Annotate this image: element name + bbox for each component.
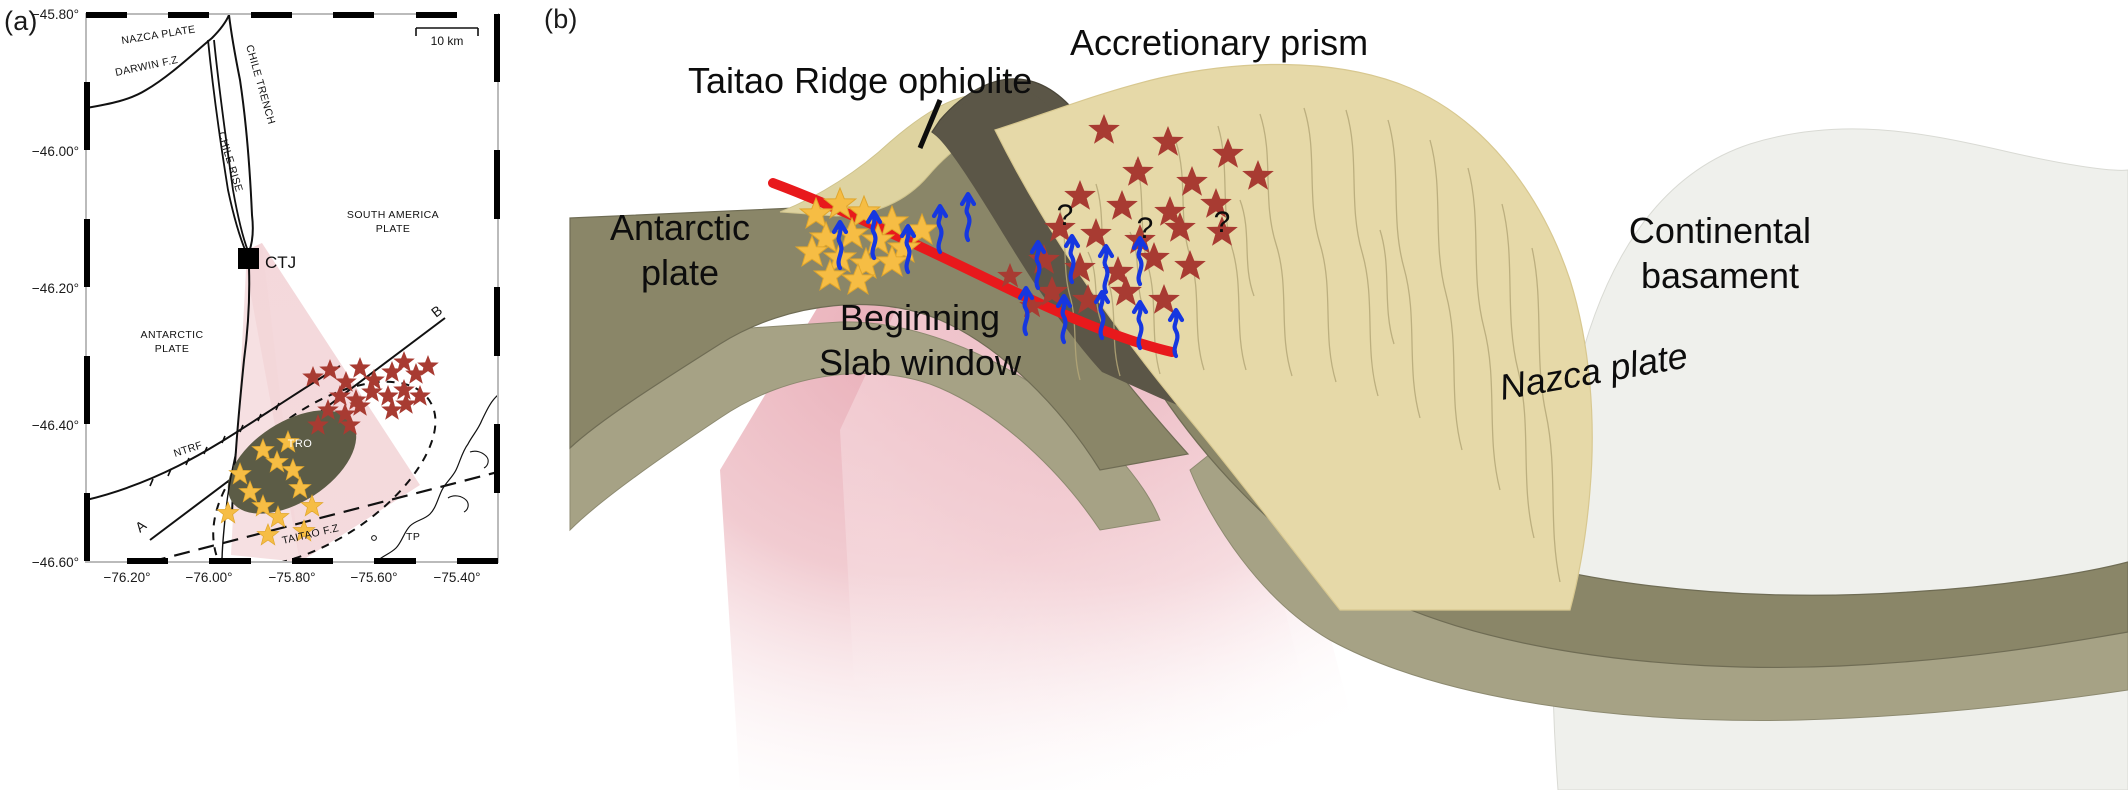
- y-tick-1: −46.00°: [32, 144, 79, 159]
- question-mark-1: ?: [1057, 199, 1074, 232]
- map-svg: −45.80° −46.00° −46.20° −46.40° −46.60° …: [0, 0, 540, 790]
- label-accretionary-prism: Accretionary prism: [1070, 22, 1368, 63]
- question-mark-3: ?: [1214, 206, 1231, 239]
- cross-section-svg: ? ? ? Taitao Ridge ophiolite Accretionar…: [540, 0, 2128, 790]
- label-continental-basament-1: Continental: [1629, 210, 1811, 251]
- figure-root: (a): [0, 0, 2128, 790]
- panel-b-letter: (b): [544, 4, 578, 35]
- panel-a-map: (a): [0, 0, 540, 790]
- y-tick-3: −46.40°: [32, 418, 79, 433]
- label-tro: TRO: [288, 438, 313, 450]
- label-beginning-slab-window-2: Slab window: [819, 342, 1022, 383]
- ctj-marker: [238, 248, 259, 269]
- x-tick-0: −76.20°: [103, 570, 150, 585]
- x-tick-4: −75.40°: [433, 570, 480, 585]
- label-south-america-plate-2: PLATE: [376, 223, 410, 235]
- y-tick-2: −46.20°: [32, 281, 79, 296]
- panel-a-letter: (a): [4, 6, 38, 37]
- label-south-america-plate-1: SOUTH AMERICA: [347, 209, 439, 221]
- label-beginning-slab-window-1: Beginning: [840, 297, 1000, 338]
- panel-b-cross-section: (b): [540, 0, 2128, 790]
- y-axis-tick-labels: −45.80° −46.00° −46.20° −46.40° −46.60°: [32, 7, 79, 570]
- x-tick-2: −75.80°: [268, 570, 315, 585]
- x-tick-1: −76.00°: [185, 570, 232, 585]
- question-mark-2: ?: [1137, 212, 1154, 245]
- label-taitao-ridge-ophiolite: Taitao Ridge ophiolite: [688, 60, 1032, 101]
- y-tick-0: −45.80°: [32, 7, 79, 22]
- label-continental-basament-2: basament: [1641, 255, 1799, 296]
- label-antarctic-plate-2: plate: [641, 252, 719, 293]
- x-axis-tick-labels: −76.20° −76.00° −75.80° −75.60° −75.40°: [103, 570, 480, 585]
- label-ctj: CTJ: [265, 253, 296, 272]
- label-antarctic-plate-1: Antarctic: [610, 207, 750, 248]
- scale-bar-label: 10 km: [431, 34, 464, 48]
- label-tp: TP: [406, 531, 420, 543]
- y-tick-4: −46.60°: [32, 555, 79, 570]
- label-antarctic-plate-2: PLATE: [155, 343, 189, 355]
- x-tick-3: −75.60°: [350, 570, 397, 585]
- label-antarctic-plate-1: ANTARCTIC: [141, 329, 204, 341]
